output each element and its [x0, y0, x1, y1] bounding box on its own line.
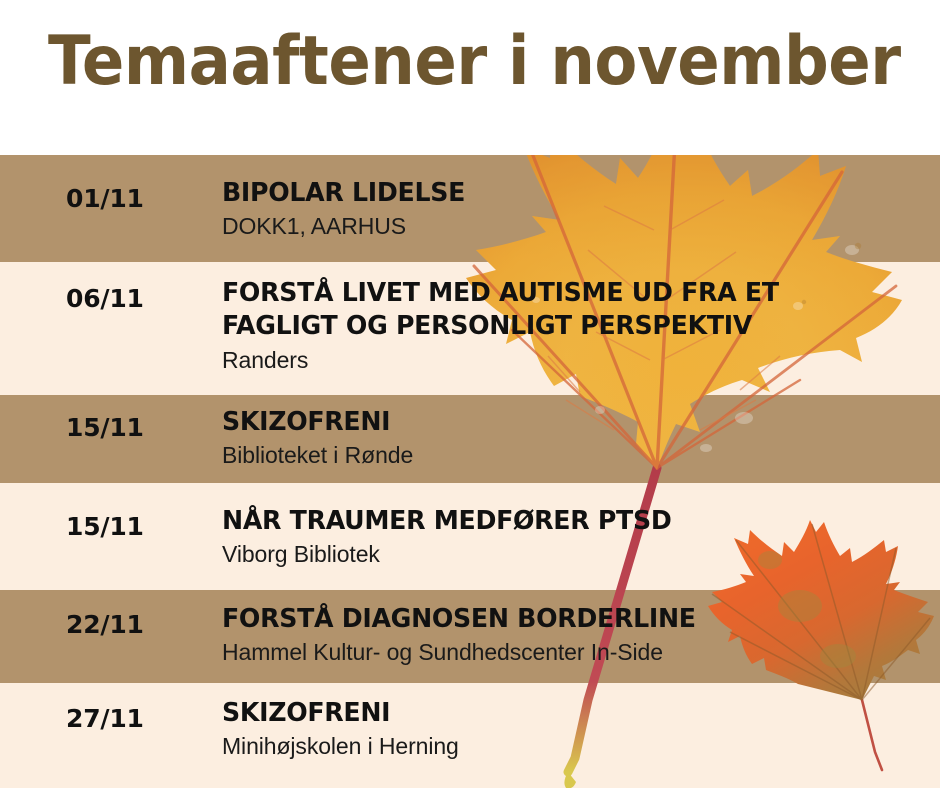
event-venue: Viborg Bibliotek [222, 540, 930, 570]
event-row[interactable]: 15/11 NÅR TRAUMER MEDFØRER PTSD Viborg B… [0, 483, 940, 590]
event-date: 06/11 [66, 284, 144, 313]
event-row[interactable]: 27/11 SKIZOFRENI Minihøjskolen i Herning [0, 683, 940, 788]
event-title: BIPOLAR LIDELSE [222, 177, 909, 210]
event-venue: Randers [222, 346, 930, 376]
event-date: 15/11 [66, 512, 144, 541]
event-title: NÅR TRAUMER MEDFØRER PTSD [222, 505, 909, 538]
event-date: 15/11 [66, 413, 144, 442]
event-row[interactable]: 01/11 BIPOLAR LIDELSE DOKK1, AARHUS [0, 155, 940, 262]
event-title: FORSTÅ DIAGNOSEN BORDERLINE [222, 603, 909, 636]
poster-header: Temaaftener i november [0, 0, 940, 155]
event-row[interactable]: 22/11 FORSTÅ DIAGNOSEN BORDERLINE Hammel… [0, 590, 940, 683]
event-venue: Minihøjskolen i Herning [222, 732, 930, 762]
event-venue: Hammel Kultur- og Sundhedscenter In-Side [222, 638, 930, 668]
page-title: Temaaftener i november [48, 26, 901, 97]
event-title: SKIZOFRENI [222, 697, 909, 730]
event-title: SKIZOFRENI [222, 406, 909, 439]
event-row[interactable]: 15/11 SKIZOFRENI Biblioteket i Rønde [0, 395, 940, 483]
event-venue: DOKK1, AARHUS [222, 212, 930, 242]
event-title: FORSTÅ LIVET MED AUTISME UD FRA ET FAGLI… [222, 277, 909, 344]
poster-canvas: 01/11 BIPOLAR LIDELSE DOKK1, AARHUS 06/1… [0, 0, 940, 788]
event-date: 22/11 [66, 610, 144, 639]
event-row[interactable]: 06/11 FORSTÅ LIVET MED AUTISME UD FRA ET… [0, 262, 940, 395]
event-date: 27/11 [66, 704, 144, 733]
event-venue: Biblioteket i Rønde [222, 441, 930, 471]
event-date: 01/11 [66, 184, 144, 213]
